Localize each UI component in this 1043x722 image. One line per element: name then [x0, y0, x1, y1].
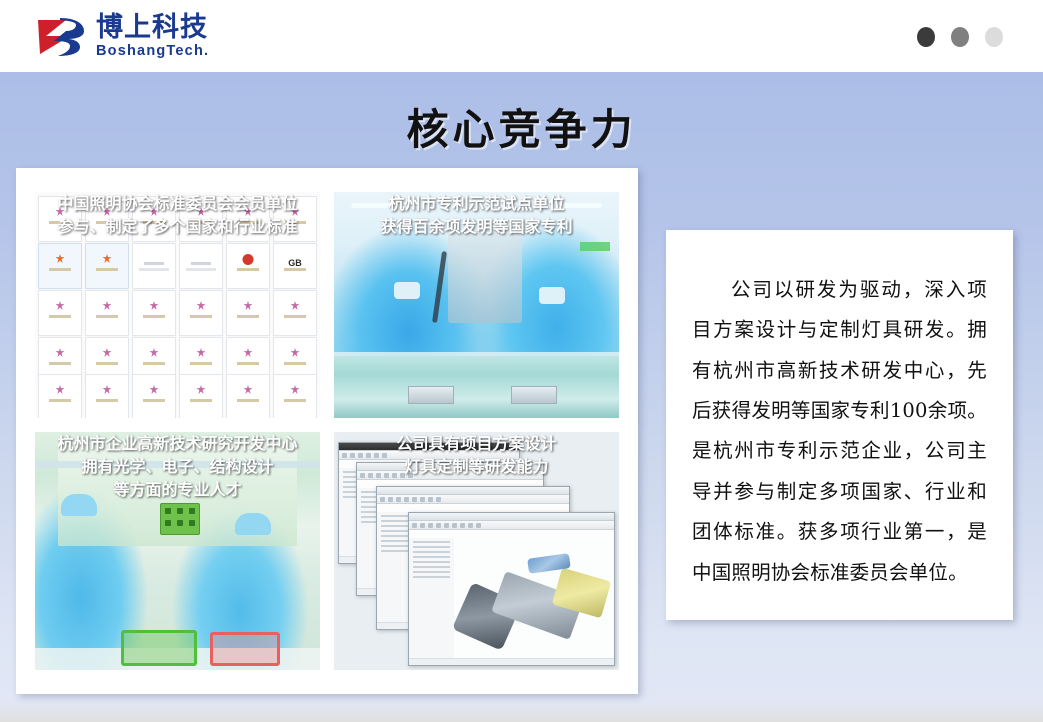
logo-text-en: BoshangTech. [96, 44, 209, 59]
pagination-dot-2[interactable] [951, 27, 969, 47]
overlay-line-3: 等方面的专业人才 [35, 478, 320, 501]
overlay-line-2: 灯具定制等研发能力 [334, 455, 619, 478]
logo-text-cn: 博上科技 [96, 14, 209, 41]
image-grid: 中国照明协会标准委员会会员单位 参与、制定了多个国家和行业标准 [35, 192, 619, 670]
page-title: 核心竞争力 [0, 96, 1043, 157]
cell-overlay-caption: 杭州市企业高新技术研究开发中心 拥有光学、电子、结构设计 等方面的专业人才 [35, 432, 320, 502]
pagination-dot-1[interactable] [917, 27, 935, 47]
overlay-line-1: 公司具有项目方案设计 [334, 432, 619, 455]
description-paragraph: 公司以研发为驱动，深入项目方案设计与定制灯具研发。拥有杭州市高新技术研发中心，先… [666, 230, 1013, 593]
pagination-dot-3[interactable] [985, 27, 1003, 47]
grid-cell-cleanroom[interactable]: 杭州市专利示范试点单位 获得百余项发明等国家专利 [334, 192, 619, 418]
overlay-line-1: 杭州市专利示范试点单位 [334, 192, 619, 215]
overlay-line-2: 参与、制定了多个国家和行业标准 [35, 215, 320, 238]
cell-overlay-caption: 中国照明协会标准委员会会员单位 参与、制定了多个国家和行业标准 [35, 192, 320, 238]
cell-overlay-caption: 公司具有项目方案设计 灯具定制等研发能力 [334, 432, 619, 478]
page-header: 博上科技 BoshangTech. [0, 0, 1043, 72]
slide-root: 博上科技 BoshangTech. 核心竞争力 [0, 0, 1043, 722]
description-card: 公司以研发为驱动，深入项目方案设计与定制灯具研发。拥有杭州市高新技术研发中心，先… [666, 230, 1013, 620]
pagination-dots[interactable] [917, 27, 1003, 47]
overlay-line-1: 中国照明协会标准委员会会员单位 [35, 192, 320, 215]
overlay-line-2: 获得百余项发明等国家专利 [334, 215, 619, 238]
image-panel: 中国照明协会标准委员会会员单位 参与、制定了多个国家和行业标准 [16, 168, 638, 694]
grid-cell-cad[interactable]: 公司具有项目方案设计 灯具定制等研发能力 [334, 432, 619, 670]
cell-overlay-caption: 杭州市专利示范试点单位 获得百余项发明等国家专利 [334, 192, 619, 238]
overlay-line-1: 杭州市企业高新技术研究开发中心 [35, 432, 320, 455]
company-logo[interactable]: 博上科技 BoshangTech. [36, 12, 209, 60]
boshang-logo-icon [36, 14, 88, 58]
overlay-line-2: 拥有光学、电子、结构设计 [35, 455, 320, 478]
grid-cell-lab[interactable]: 杭州市企业高新技术研究开发中心 拥有光学、电子、结构设计 等方面的专业人才 [35, 432, 320, 670]
grid-cell-certificates[interactable]: 中国照明协会标准委员会会员单位 参与、制定了多个国家和行业标准 [35, 192, 320, 418]
